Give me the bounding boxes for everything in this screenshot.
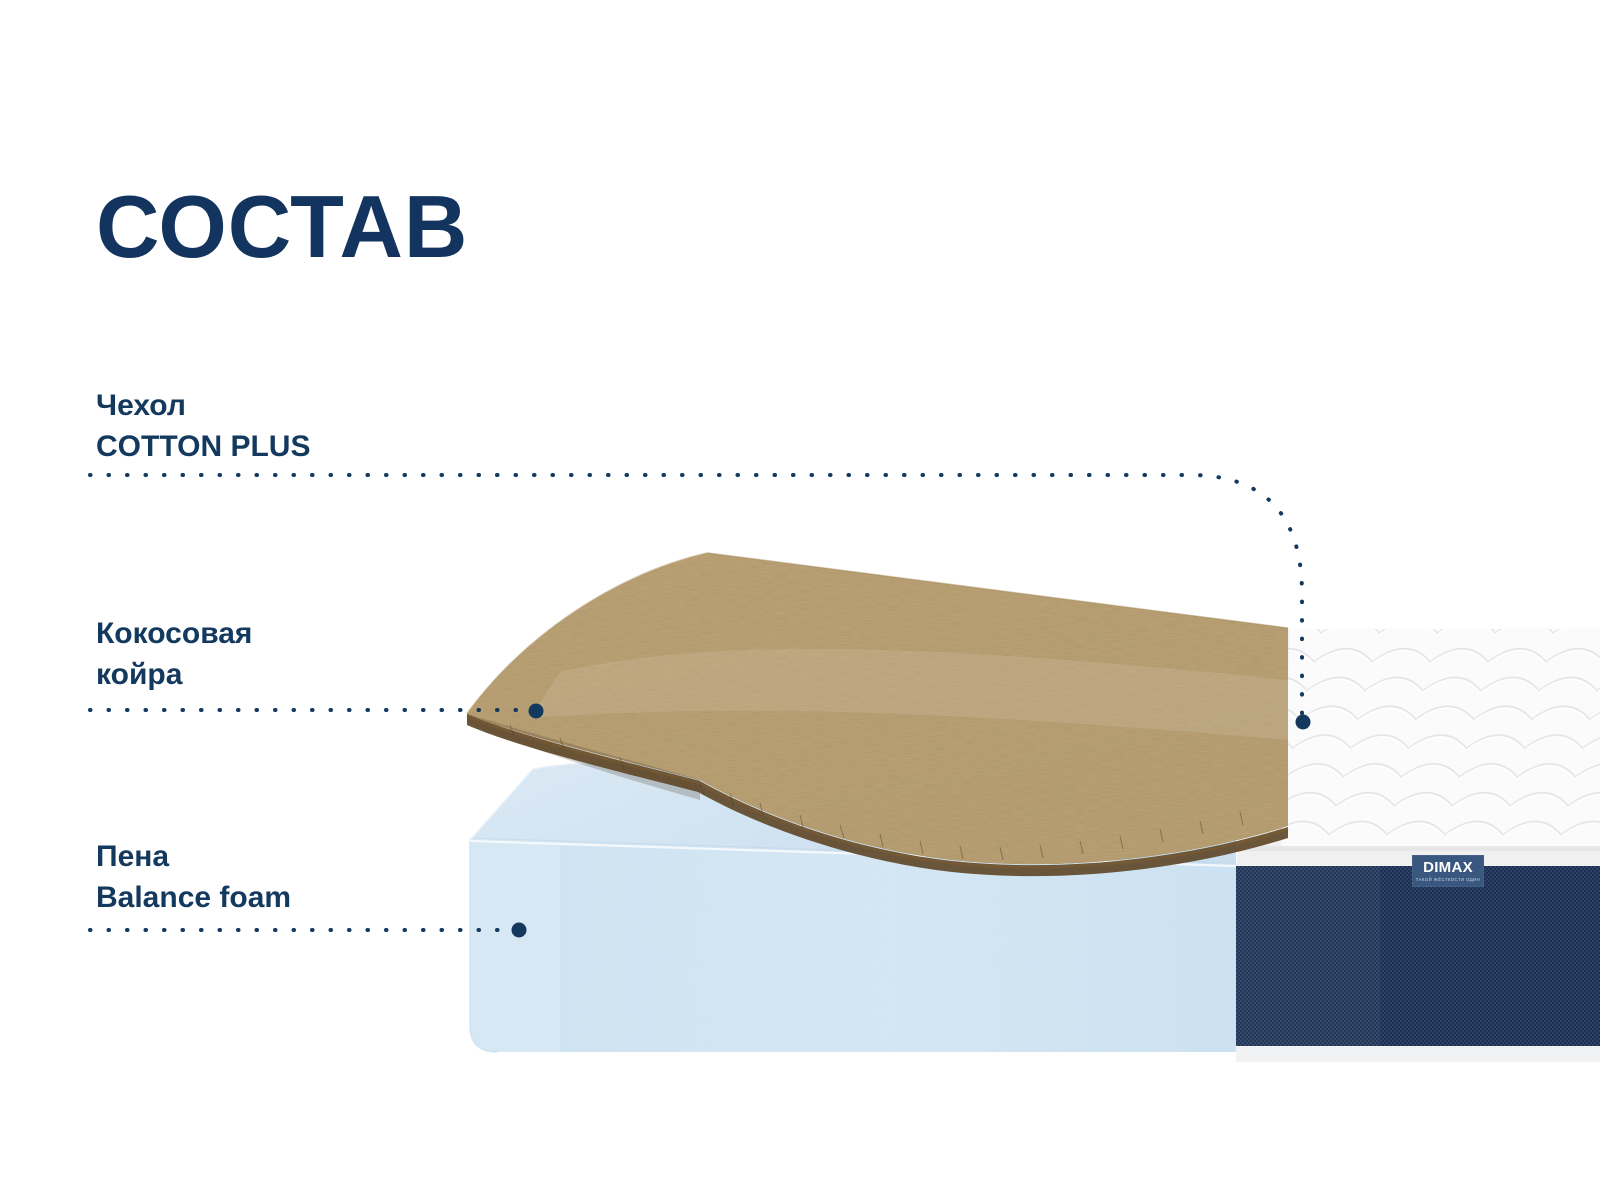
leader-dot-coir (529, 704, 544, 719)
brand-name: DIMAX (1423, 860, 1473, 875)
mattress-cutaway-illustration (0, 0, 1600, 1201)
layer-label-coir-primary: Кокосовая (96, 613, 252, 654)
mattress-side-panel (1236, 866, 1600, 1062)
layer-label-cover-secondary: COTTON PLUS (96, 426, 310, 467)
layer-label-foam: Пена Balance foam (96, 836, 291, 919)
brand-tagline: ТАКОЙ ЖЁСТКОСТИ ОДИН (1416, 878, 1480, 882)
layer-label-foam-primary: Пена (96, 836, 291, 877)
layer-label-cover-primary: Чехол (96, 385, 310, 426)
layer-label-coir: Кокосовая койра (96, 613, 252, 696)
leader-dot-foam (512, 923, 527, 938)
brand-badge: DIMAX ТАКОЙ ЖЁСТКОСТИ ОДИН (1412, 855, 1484, 887)
leader-dot-cover (1296, 715, 1311, 730)
layer-label-foam-secondary: Balance foam (96, 877, 291, 918)
layer-label-cover: Чехол COTTON PLUS (96, 385, 310, 468)
composition-infographic: СОСТАВ (0, 0, 1600, 1201)
layer-label-coir-secondary: койра (96, 654, 252, 695)
